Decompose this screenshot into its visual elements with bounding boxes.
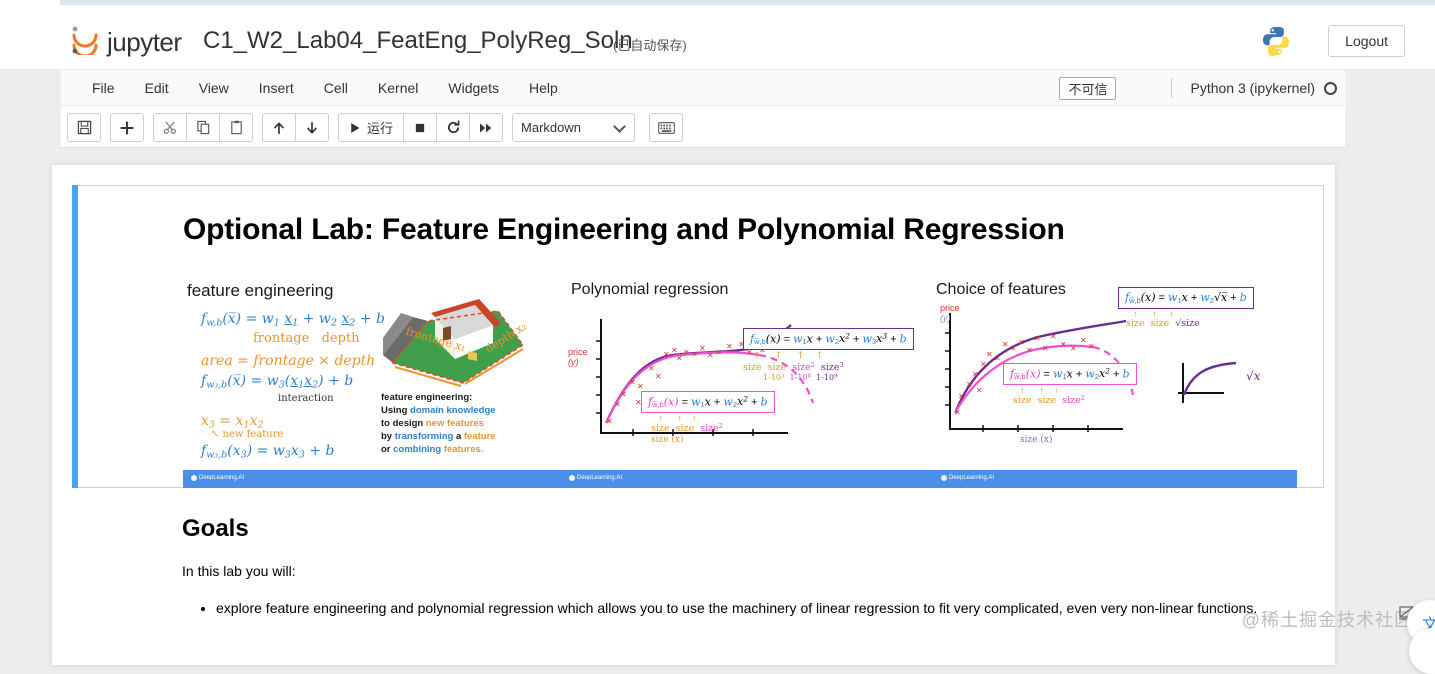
save-button[interactable] xyxy=(67,113,101,142)
svg-text:✕: ✕ xyxy=(715,348,722,357)
interrupt-kernel-button[interactable] xyxy=(403,113,437,142)
lecture-slide-image: feature engineering fw,b(x̅) = w1 x1 + w… xyxy=(183,273,1297,488)
run-cell-button[interactable]: 运行 xyxy=(338,113,404,142)
notebook-header: jupyter C1_W2_Lab04_FeatEng_PolyReg_Soln… xyxy=(0,5,1435,70)
deeplearning-brand-3: DeepLearning.AI xyxy=(941,475,994,481)
kernel-status-area: 不可信 Python 3 (ipykernel) xyxy=(1059,70,1337,106)
svg-text:✕: ✕ xyxy=(629,378,636,387)
jupyter-wordmark[interactable]: jupyter xyxy=(107,27,182,58)
svg-text:✕: ✕ xyxy=(1034,334,1041,343)
move-cell-down-button[interactable] xyxy=(295,113,329,142)
panel-3-annot-top-labels: size size √size xyxy=(1126,318,1200,329)
panel-2-annot-top-labels: size size size2 size3 xyxy=(743,361,844,373)
slide-footer-bar: DeepLearning.AI DeepLearning.AI DeepLear… xyxy=(183,470,1297,488)
panel-1-equation-2: fw₃,b(x̅) = w3(x1x2) + b xyxy=(201,373,353,390)
panel-1-equation-area: area = frontage × depth xyxy=(201,353,375,369)
svg-text:✕: ✕ xyxy=(980,360,987,369)
panel-3-equation-top: fw̅,b(x) = w1x + w2√x̅ + b xyxy=(1118,287,1254,309)
slide-panel-feature-engineering: feature engineering fw,b(x̅) = w1 x1 + w… xyxy=(183,273,568,463)
svg-text:✕: ✕ xyxy=(1002,340,1009,349)
svg-text:✕: ✕ xyxy=(976,386,983,395)
toolbar-group-clipboard xyxy=(153,113,253,142)
deeplearning-logo-icon xyxy=(569,475,575,481)
paste-cell-button[interactable] xyxy=(219,113,253,142)
menu-item-view[interactable]: View xyxy=(184,70,244,106)
panel-3-axis-y-label: price(y) xyxy=(940,303,960,323)
lab-heading: Optional Lab: Feature Engineering and Po… xyxy=(183,213,1065,247)
svg-text:✕: ✕ xyxy=(606,417,613,426)
slide-panel-choice-of-features: Choice of features ✕✕✕ ✕✕✕ xyxy=(928,273,1297,463)
svg-text:✕: ✕ xyxy=(663,350,670,359)
arrow-down-icon xyxy=(305,121,319,135)
restart-circle-icon xyxy=(446,120,461,135)
goals-intro: In this lab you will: xyxy=(182,563,296,579)
menu-item-edit[interactable]: Edit xyxy=(130,70,184,106)
kernel-idle-circle-icon[interactable] xyxy=(1324,82,1337,95)
svg-text:✕: ✕ xyxy=(707,351,714,360)
svg-text:✕: ✕ xyxy=(1080,336,1087,345)
goals-heading: Goals xyxy=(182,515,249,543)
menu-item-cell[interactable]: Cell xyxy=(309,70,363,106)
panel-2-annot-top-arrows: ↑ ↑ ↑ ↑ xyxy=(753,351,823,361)
markdown-cell[interactable]: Optional Lab: Feature Engineering and Po… xyxy=(72,185,1324,488)
deeplearning-logo-icon xyxy=(941,475,947,481)
jupyter-logo-icon[interactable] xyxy=(70,25,100,55)
deeplearning-logo-icon xyxy=(191,475,197,481)
deeplearning-brand-2: DeepLearning.AI xyxy=(569,475,622,481)
svg-text:✕: ✕ xyxy=(994,354,1001,363)
panel-3-equation-bottom: fw̅,b(x) = w1x + w2x2 + b xyxy=(1003,363,1137,385)
play-icon xyxy=(349,122,361,134)
insert-cell-below-button[interactable] xyxy=(110,113,144,142)
menu-items-container: File Edit View Insert Cell Kernel Widget… xyxy=(77,70,573,106)
toolbar-group-run: 运行 xyxy=(338,113,503,142)
kernel-separator xyxy=(1171,78,1172,98)
panel-3-heading: Choice of features xyxy=(936,281,1066,299)
svg-text:✕: ✕ xyxy=(1018,338,1025,347)
svg-text:✕: ✕ xyxy=(655,372,662,381)
arrow-up-icon xyxy=(272,121,286,135)
toolbar-group-insert xyxy=(110,113,144,142)
svg-text:✕: ✕ xyxy=(1050,332,1057,341)
copy-cell-button[interactable] xyxy=(186,113,220,142)
svg-text:✕: ✕ xyxy=(1088,342,1095,351)
panel-1-annot-new-feature: ↖ new feature xyxy=(211,429,283,440)
panel-2-equation-top: fw̅,b(x) = w1x + w2x2 + w3x3 + b xyxy=(743,328,914,350)
svg-text:✕: ✕ xyxy=(954,408,961,417)
panel-2-axis-y-label: price(y) xyxy=(568,347,588,367)
toolbar-group-keyboard xyxy=(649,113,683,142)
deeplearning-brand-text: DeepLearning.AI xyxy=(949,475,994,481)
paste-icon xyxy=(229,120,244,135)
panel-1-equation-3: fw₃,b(x3) = w3x3 + b xyxy=(201,443,334,460)
cut-cell-button[interactable] xyxy=(153,113,187,142)
panel-1-annot-frontage-depth: frontage depth xyxy=(253,331,360,346)
trust-badge[interactable]: 不可信 xyxy=(1059,77,1116,100)
panel-2-axis-x-label: size (x) xyxy=(651,435,684,445)
menu-item-file[interactable]: File xyxy=(77,70,130,106)
svg-text:✕: ✕ xyxy=(966,380,973,389)
move-cell-up-button[interactable] xyxy=(262,113,296,142)
svg-text:✕: ✕ xyxy=(676,354,683,363)
svg-text:✕: ✕ xyxy=(683,348,690,357)
panel-1-heading: feature engineering xyxy=(187,281,334,301)
copy-icon xyxy=(196,120,211,135)
fast-forward-icon xyxy=(479,122,493,134)
panel-1-caption: feature engineering: Using domain knowle… xyxy=(381,391,496,456)
stop-square-icon xyxy=(414,122,426,134)
svg-text:✕: ✕ xyxy=(637,382,644,391)
panel-3-inset-label: √x xyxy=(1246,369,1260,383)
svg-text:✕: ✕ xyxy=(726,342,733,351)
svg-text:✕: ✕ xyxy=(1026,346,1033,355)
slide-panel-polynomial-regression: Polynomial regression ✕✕✕ ✕✕✕ xyxy=(563,273,933,463)
caption-line-4: by transforming a feature xyxy=(381,430,496,443)
deeplearning-brand-1: DeepLearning.AI xyxy=(191,475,244,481)
svg-text:✕: ✕ xyxy=(614,400,621,409)
command-palette-button[interactable] xyxy=(649,113,683,142)
svg-text:✕: ✕ xyxy=(1060,340,1067,349)
deeplearning-brand-text: DeepLearning.AI xyxy=(199,475,244,481)
panel-2-annot-top-scales: 1-103 1-106 1-109 xyxy=(763,373,838,382)
menu-item-widgets[interactable]: Widgets xyxy=(433,70,514,106)
svg-text:✕: ✕ xyxy=(1042,344,1049,353)
restart-kernel-button[interactable] xyxy=(436,113,470,142)
menu-item-kernel[interactable]: Kernel xyxy=(363,70,433,106)
caption-line-3: to design new features xyxy=(381,417,496,430)
keyboard-icon xyxy=(658,122,675,134)
svg-text:✕: ✕ xyxy=(1070,344,1077,353)
svg-text:✕: ✕ xyxy=(699,344,706,353)
cell-type-select-wrap: Markdown xyxy=(512,113,635,142)
menu-item-help[interactable]: Help xyxy=(514,70,573,106)
panel-2-equation-bottom: fw̅,b(x) = w1x + w2x2 + b xyxy=(641,391,775,413)
cell-type-select[interactable]: Markdown xyxy=(512,113,635,142)
menu-bar: File Edit View Insert Cell Kernel Widget… xyxy=(60,70,1345,106)
caption-line-1: feature engineering: xyxy=(381,391,496,404)
svg-text:✕: ✕ xyxy=(1010,344,1017,353)
svg-text:✕: ✕ xyxy=(648,364,655,373)
scissors-icon xyxy=(163,120,178,135)
panel-2-annot-bottom-labels: size size size2 xyxy=(651,422,723,434)
svg-text:✕: ✕ xyxy=(958,392,965,401)
toolbar-group-save xyxy=(67,113,101,142)
svg-text:✕: ✕ xyxy=(620,390,627,399)
run-cell-label: 运行 xyxy=(367,118,393,137)
kernel-name-label[interactable]: Python 3 (ipykernel) xyxy=(1190,80,1315,96)
menu-item-insert[interactable]: Insert xyxy=(244,70,309,106)
svg-text:✕: ✕ xyxy=(691,350,698,359)
panel-1-equation-x3: x3 = x1x2 xyxy=(201,413,264,430)
panel-1-equation-1: fw,b(x̅) = w1 x1 + w2 x2 + b xyxy=(201,311,385,328)
list-item: explore feature engineering and polynomi… xyxy=(216,597,1330,620)
svg-text:✕: ✕ xyxy=(986,350,993,359)
caption-line-2: Using domain knowledge xyxy=(381,404,496,417)
plus-icon xyxy=(120,121,134,135)
caption-line-5: or combining features. xyxy=(381,443,496,456)
logout-button[interactable]: Logout xyxy=(1328,25,1405,57)
deeplearning-brand-text: DeepLearning.AI xyxy=(577,475,622,481)
toolbar-group-move xyxy=(262,113,329,142)
cell-selection-marker xyxy=(72,185,78,488)
svg-text:✕: ✕ xyxy=(972,370,979,379)
panel-1-annot-interaction: interaction xyxy=(278,393,334,404)
autosave-status: (已自动保存) xyxy=(613,35,687,54)
goals-list: explore feature engineering and polynomi… xyxy=(200,597,1330,620)
notebook-page: Optional Lab: Feature Engineering and Po… xyxy=(52,165,1335,665)
panel-2-heading: Polynomial regression xyxy=(571,281,728,299)
notebook-title[interactable]: C1_W2_Lab04_FeatEng_PolyReg_Soln xyxy=(203,27,633,55)
notebook-toolbar: 运行 Markdown xyxy=(60,106,1345,148)
python-logo-icon xyxy=(1260,25,1292,57)
panel-3-annot-bottom-labels: size size size2 xyxy=(1013,394,1085,406)
floppy-disk-icon xyxy=(77,120,92,135)
restart-and-run-all-button[interactable] xyxy=(469,113,503,142)
panel-3-axis-x-label: size (x) xyxy=(1020,435,1053,445)
